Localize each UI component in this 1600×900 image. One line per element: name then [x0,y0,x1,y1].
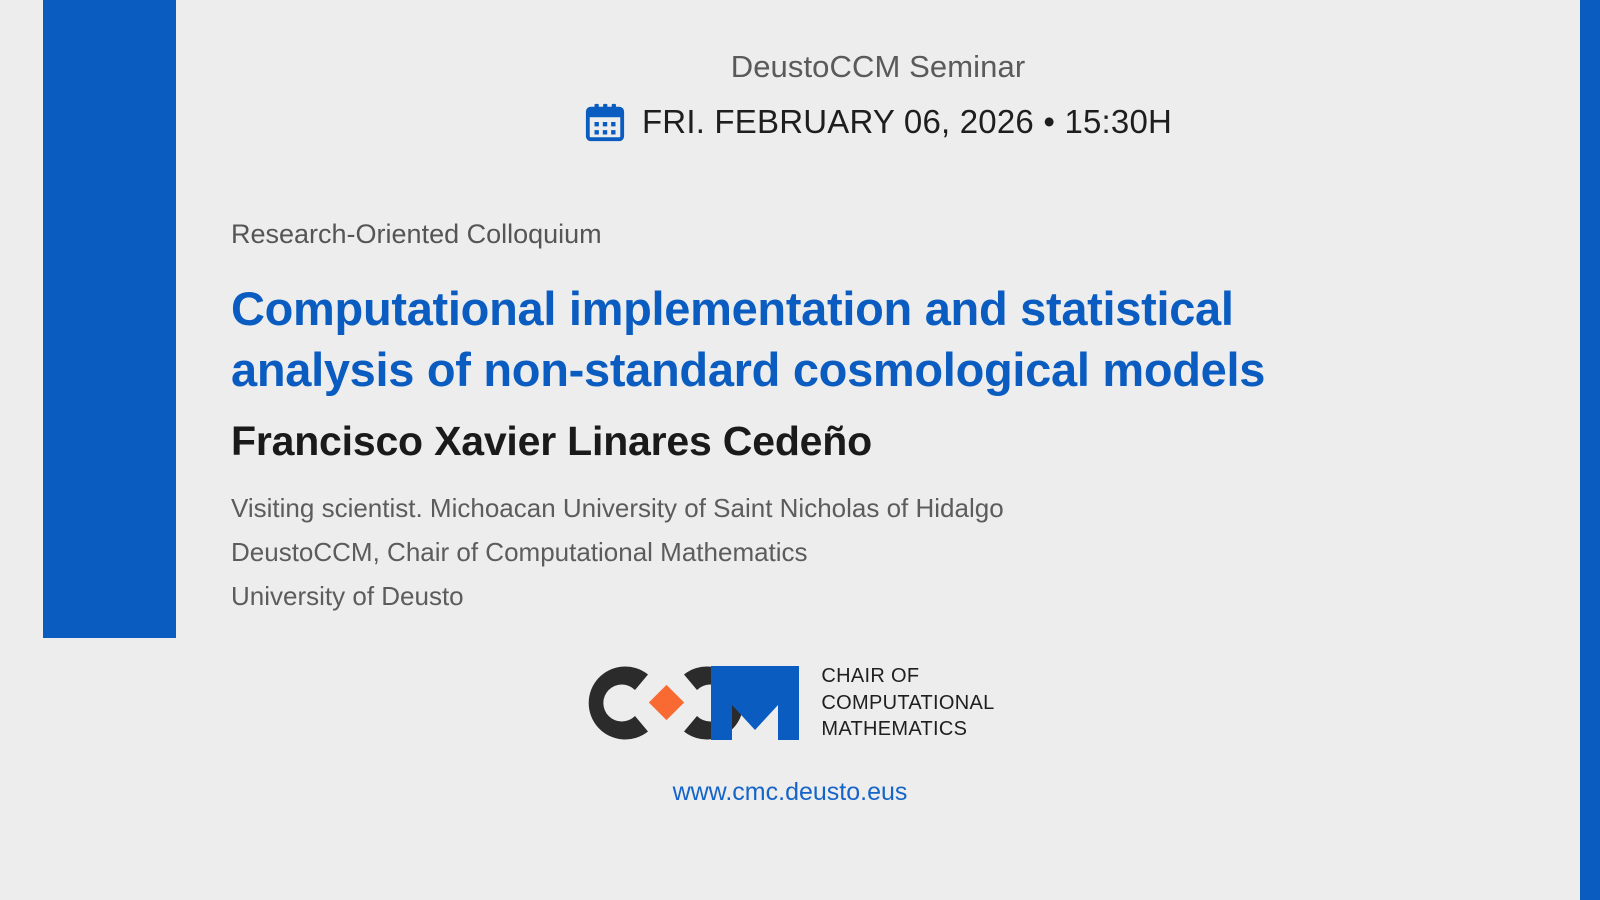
logo-wordmark: CHAIR OF COMPUTATIONAL MATHEMATICS [821,663,994,742]
footer-area: www.cmc.deusto.eus [0,778,1580,807]
date-time-text: FRI. FEBRUARY 06, 2026 • 15:30H [642,103,1172,141]
poster-body: Research-Oriented Colloquium Computation… [231,218,1411,619]
series-name: DeustoCCM Seminar [176,48,1580,85]
speaker-affiliation-3: University of Deusto [231,575,1411,619]
logo-line-1: CHAIR OF [821,663,994,689]
left-accent-bar [43,0,176,638]
logo-area: CHAIR OF COMPUTATIONAL MATHEMATICS [0,660,1580,746]
date-row: FRI. FEBRUARY 06, 2026 • 15:30H [176,101,1580,143]
poster-header: DeustoCCM Seminar FRI. FEBRUARY 06, 2026… [176,48,1580,143]
logo-letter-m [711,666,799,740]
speaker-name: Francisco Xavier Linares Cedeño [231,416,1411,467]
ccm-logo-mark [585,660,807,746]
logo-line-2: COMPUTATIONAL [821,690,994,716]
logo-letter-c-left [589,667,648,740]
website-link[interactable]: www.cmc.deusto.eus [673,778,908,806]
calendar-icon [584,101,626,143]
seminar-poster: DeustoCCM Seminar FRI. FEBRUARY 06, 2026… [0,0,1600,900]
ccm-logo: CHAIR OF COMPUTATIONAL MATHEMATICS [585,660,994,746]
right-accent-bar [1580,0,1600,900]
event-type-label: Research-Oriented Colloquium [231,218,1411,252]
speaker-affiliation-1: Visiting scientist. Michoacan University… [231,487,1411,531]
logo-diamond [649,685,684,720]
speaker-affiliation-2: DeustoCCM, Chair of Computational Mathem… [231,531,1411,575]
talk-title: Computational implementation and statist… [231,278,1371,400]
logo-line-3: MATHEMATICS [821,716,994,742]
